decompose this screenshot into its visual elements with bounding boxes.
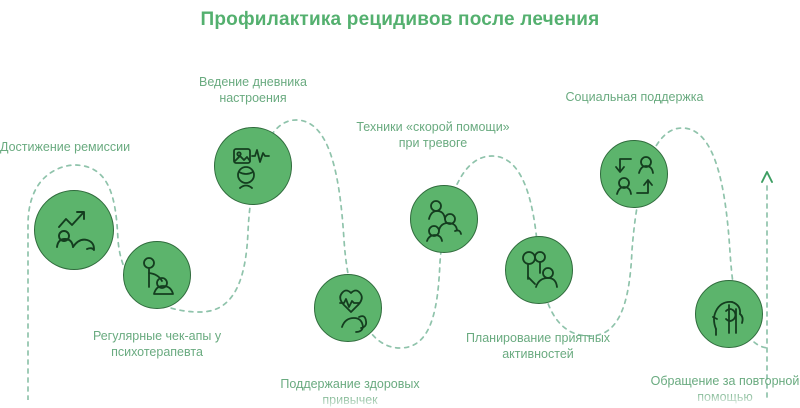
head-hand-support-icon [696, 281, 764, 349]
step-healthy-habits-bubble[interactable] [314, 274, 382, 342]
person-growth-arrow-icon [35, 191, 115, 271]
therapist-session-icon [124, 242, 192, 310]
step-checkups-label: Регулярные чек-апы у психотерапевта [72, 328, 242, 360]
step-remission-bubble[interactable] [34, 190, 114, 270]
step-emergency-techniques-label: Техники «скорой помощи» при тревоге [338, 119, 528, 151]
step-social-support-bubble[interactable] [600, 140, 668, 208]
step-checkups-bubble[interactable] [123, 241, 191, 309]
step-pleasant-activities-label: Планирование приятных активностей [443, 330, 633, 362]
step-pleasant-activities-bubble[interactable] [505, 236, 573, 304]
mood-diary-icon [215, 128, 293, 206]
heart-pulse-strong-arm-icon [315, 275, 383, 343]
step-emergency-techniques-bubble[interactable] [410, 185, 478, 253]
step-healthy-habits-label: Поддержание здоровых привычек [255, 376, 445, 408]
step-repeat-help-label: Обращение за повторной помощью [630, 373, 800, 405]
page-title: Профилактика рецидивов после лечения [0, 9, 800, 31]
infographic-canvas: Профилактика рецидивов после лечения Дос… [0, 0, 800, 400]
breathing-techniques-icon [411, 186, 479, 254]
step-mood-diary-label: Ведение дневника настроения [168, 74, 338, 106]
people-exchange-icon [601, 141, 669, 209]
step-mood-diary-bubble[interactable] [214, 127, 292, 205]
step-remission-label: Достижение ремиссии [0, 139, 150, 155]
step-social-support-label: Социальная поддержка [542, 89, 727, 105]
step-repeat-help-bubble[interactable] [695, 280, 763, 348]
group-activities-icon [506, 237, 574, 305]
